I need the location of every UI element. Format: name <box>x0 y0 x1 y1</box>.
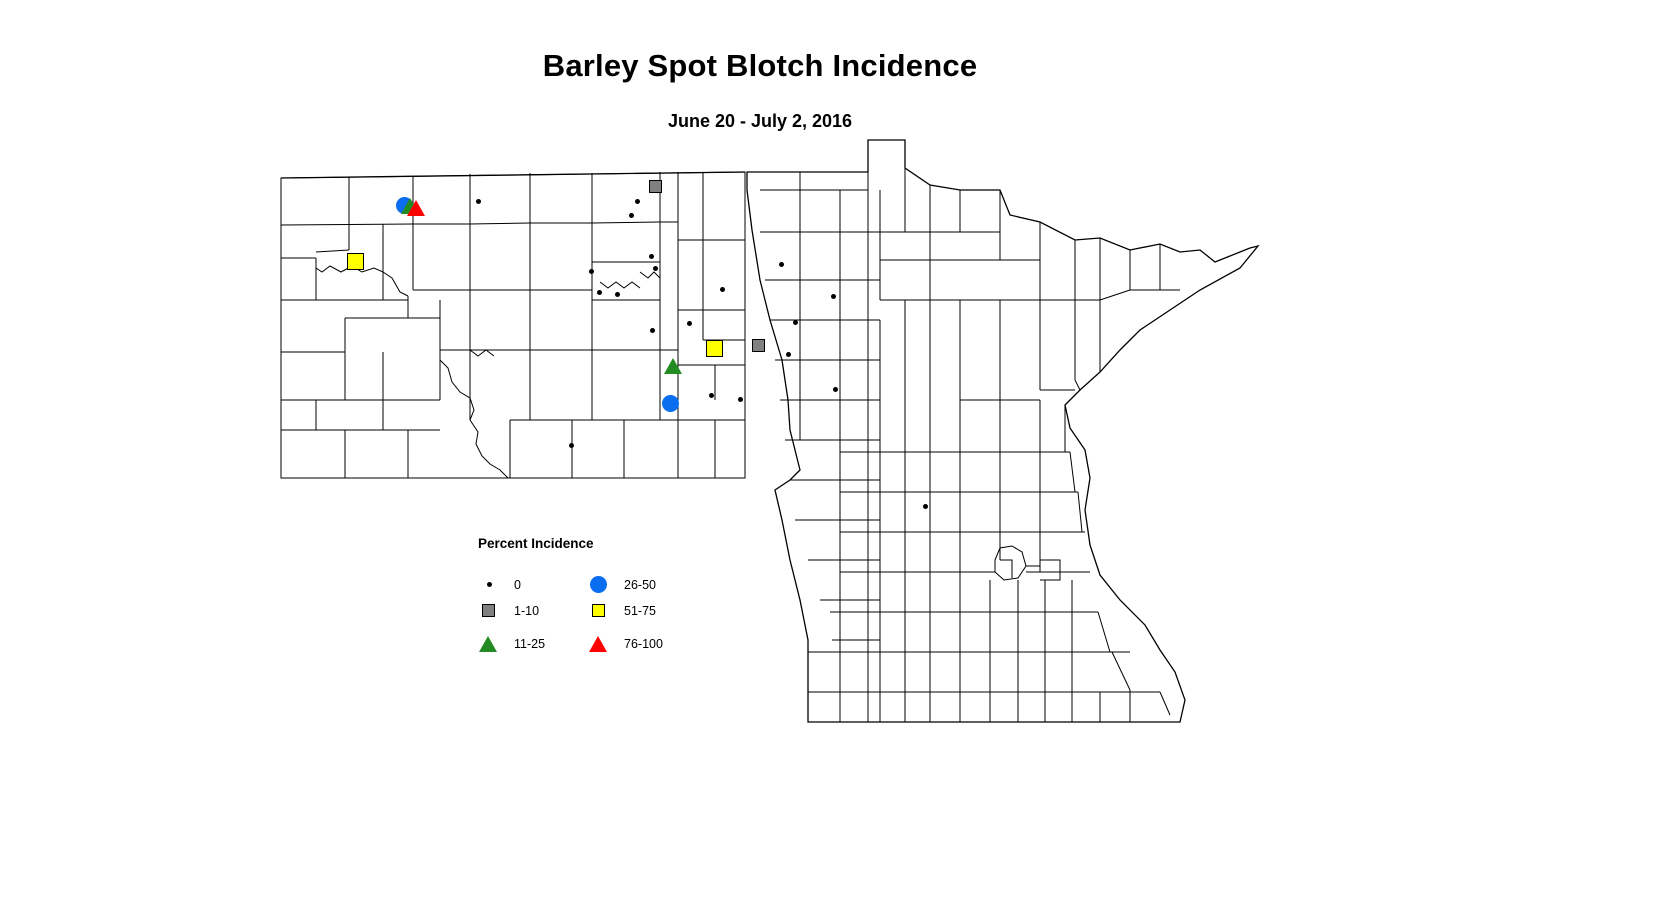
legend-label: 51-75 <box>624 604 656 618</box>
map-marker-0 <box>793 320 798 325</box>
map-marker-0 <box>833 387 838 392</box>
legend: Percent Incidence 01-1011-2526-5051-7576… <box>478 536 738 661</box>
legend-swatch-square-icon <box>478 600 504 622</box>
legend-label: 26-50 <box>624 578 656 592</box>
map-marker-0 <box>779 262 784 267</box>
map-marker-0 <box>786 352 791 357</box>
map-marker-0 <box>589 269 594 274</box>
legend-label: 76-100 <box>624 637 663 651</box>
triangle-icon <box>479 636 497 652</box>
triangle-icon <box>589 636 607 652</box>
map-marker-0 <box>615 292 620 297</box>
map-marker-0 <box>709 393 714 398</box>
legend-label: 11-25 <box>514 637 545 651</box>
map-marker-51-75 <box>706 340 723 357</box>
map-marker-11-25 <box>664 358 682 374</box>
legend-swatch-square-icon <box>588 600 614 622</box>
legend-swatch-triangle-icon <box>588 633 614 655</box>
map-marker-1-10 <box>649 180 662 193</box>
map-marker-26-50 <box>662 395 679 412</box>
map-marker-0 <box>831 294 836 299</box>
map-marker-76-100 <box>407 200 425 216</box>
map-marker-51-75 <box>347 253 364 270</box>
legend-label: 0 <box>514 578 521 592</box>
map-marker-0 <box>635 199 640 204</box>
north-dakota-counties <box>281 172 745 478</box>
map-marker-0 <box>720 287 725 292</box>
map-marker-0 <box>923 504 928 509</box>
legend-title: Percent Incidence <box>478 536 594 551</box>
legend-label: 1-10 <box>514 604 539 618</box>
map-marker-1-10 <box>752 339 765 352</box>
map-marker-0 <box>738 397 743 402</box>
square-icon <box>592 604 605 617</box>
map-figure: Barley Spot Blotch Incidence June 20 - J… <box>0 0 1673 900</box>
map-marker-0 <box>687 321 692 326</box>
map-canvas <box>0 0 1673 900</box>
square-icon <box>482 604 495 617</box>
map-marker-0 <box>653 266 658 271</box>
map-marker-0 <box>629 213 634 218</box>
dot-icon <box>487 582 492 587</box>
map-marker-0 <box>569 443 574 448</box>
county-map-svg <box>0 0 1673 900</box>
map-marker-0 <box>650 328 655 333</box>
map-marker-0 <box>597 290 602 295</box>
legend-swatch-circle-icon <box>588 574 614 596</box>
map-marker-0 <box>476 199 481 204</box>
map-marker-0 <box>649 254 654 259</box>
circle-icon <box>590 576 607 593</box>
legend-swatch-dot-icon <box>478 574 504 596</box>
minnesota-counties <box>747 140 1258 722</box>
legend-swatch-triangle-icon <box>478 633 504 655</box>
